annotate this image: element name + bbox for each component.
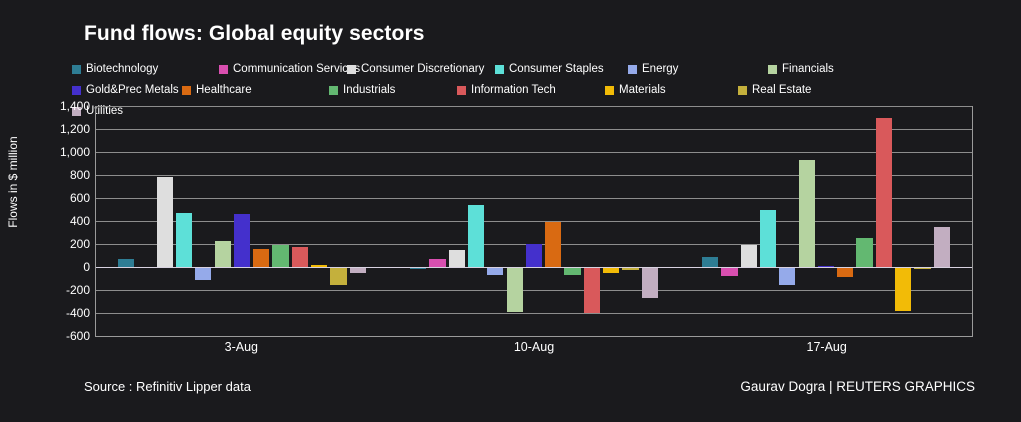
bar-slot — [836, 106, 855, 336]
bar-slot — [310, 106, 329, 336]
legend-label: Consumer Discretionary — [361, 64, 484, 75]
legend-label: Materials — [619, 85, 666, 96]
legend-item[interactable]: Energy — [628, 60, 768, 79]
bar-slot — [252, 106, 271, 336]
legend-swatch-icon — [347, 65, 356, 74]
bar-slot — [232, 106, 251, 336]
bar-slot — [913, 106, 932, 336]
bar-slot — [447, 106, 466, 336]
y-axis-tick-label: 0 — [30, 260, 90, 274]
bar-slot — [329, 106, 348, 336]
bar-slot — [271, 106, 290, 336]
bar-slot — [720, 106, 739, 336]
bar[interactable] — [741, 245, 757, 267]
legend-swatch-icon — [738, 86, 747, 95]
legend-swatch-icon — [72, 65, 81, 74]
bar-group-bars — [700, 106, 951, 336]
bar[interactable] — [721, 267, 737, 276]
legend-swatch-icon — [768, 65, 777, 74]
x-axis-labels: 3-Aug10-Aug17-Aug — [95, 340, 973, 354]
credit-note: Gaurav Dogra | REUTERS GRAPHICS — [740, 379, 975, 394]
bar[interactable] — [837, 267, 853, 277]
x-axis-tick-label: 17-Aug — [680, 340, 973, 354]
bar[interactable] — [934, 227, 950, 267]
bar[interactable] — [895, 267, 911, 311]
bar-slot — [524, 106, 543, 336]
bar-slot — [874, 106, 893, 336]
bar-slot — [932, 106, 951, 336]
y-axis-tick-label: 200 — [30, 237, 90, 251]
legend-item[interactable]: Information Tech — [457, 81, 605, 100]
legend-swatch-icon — [182, 86, 191, 95]
bar-slot — [213, 106, 232, 336]
bar[interactable] — [195, 267, 211, 280]
source-note: Source : Refinitiv Lipper data — [84, 379, 251, 394]
bar[interactable] — [234, 214, 250, 267]
y-axis-tick-label: 1,200 — [30, 122, 90, 136]
bar-slot — [116, 106, 135, 336]
y-axis-labels: 1,4001,2001,0008006004002000-200-400-600 — [20, 106, 90, 336]
bar[interactable] — [584, 267, 600, 313]
legend-label: Financials — [782, 64, 834, 75]
bar-group — [680, 106, 972, 336]
bar[interactable] — [118, 259, 134, 267]
legend-label: Healthcare — [196, 85, 252, 96]
legend-swatch-icon — [219, 65, 228, 74]
legend-swatch-icon — [605, 86, 614, 95]
bar-slot — [563, 106, 582, 336]
y-axis-tick-label: 1,000 — [30, 145, 90, 159]
bar-slot — [428, 106, 447, 336]
legend-item[interactable]: Real Estate — [738, 81, 878, 100]
bar-slot — [486, 106, 505, 336]
bar-slot — [816, 106, 835, 336]
bar[interactable] — [176, 213, 192, 267]
legend-label: Gold&Prec Metals — [86, 85, 179, 96]
bar-slot — [739, 106, 758, 336]
bar-slot — [778, 106, 797, 336]
bar[interactable] — [429, 259, 445, 267]
bar-slot — [855, 106, 874, 336]
y-axis-title: Flows in $ million — [6, 107, 20, 257]
x-axis-tick-label: 3-Aug — [95, 340, 388, 354]
y-axis-tick-label: -600 — [30, 329, 90, 343]
legend-label: Energy — [642, 64, 678, 75]
x-axis-tick-label: 10-Aug — [388, 340, 681, 354]
bar-group — [96, 106, 388, 336]
bar[interactable] — [779, 267, 795, 285]
legend-item[interactable]: Biotechnology — [72, 60, 219, 79]
legend-label: Real Estate — [752, 85, 811, 96]
bar[interactable] — [876, 118, 892, 268]
legend-item[interactable]: Consumer Discretionary — [347, 60, 495, 79]
legend-item[interactable]: Consumer Staples — [495, 60, 628, 79]
y-axis-tick-label: 400 — [30, 214, 90, 228]
bar[interactable] — [215, 241, 231, 267]
bar-slot — [408, 106, 427, 336]
bar-slot — [290, 106, 309, 336]
legend-item[interactable]: Financials — [768, 60, 908, 79]
bar-slot — [894, 106, 913, 336]
bar-groups — [96, 106, 972, 336]
bar[interactable] — [799, 160, 815, 267]
bar[interactable] — [642, 267, 658, 298]
page-title: Fund flows: Global equity sectors — [84, 22, 425, 46]
bar-slot — [136, 106, 155, 336]
y-axis-tick-label: -400 — [30, 306, 90, 320]
bar[interactable] — [330, 267, 346, 285]
bar-slot — [466, 106, 485, 336]
legend-swatch-icon — [72, 86, 81, 95]
bar-slot — [544, 106, 563, 336]
bar[interactable] — [157, 177, 173, 267]
bar-group-bars — [116, 106, 367, 336]
bar-slot — [194, 106, 213, 336]
legend-swatch-icon — [628, 65, 637, 74]
bar-slot — [174, 106, 193, 336]
legend-item[interactable]: Materials — [605, 81, 738, 100]
bar[interactable] — [526, 244, 542, 267]
bar[interactable] — [564, 267, 580, 275]
bar[interactable] — [545, 222, 561, 267]
bar[interactable] — [487, 267, 503, 275]
bar[interactable] — [292, 247, 308, 267]
bar[interactable] — [760, 210, 776, 268]
legend-label: Consumer Staples — [509, 64, 604, 75]
chart-page: Fund flows: Global equity sectors Biotec… — [0, 0, 1021, 422]
bar[interactable] — [272, 245, 288, 267]
legend-item[interactable]: Communication Services — [219, 60, 347, 79]
bar[interactable] — [507, 267, 523, 312]
bar-slot — [155, 106, 174, 336]
bar[interactable] — [253, 249, 269, 267]
legend-swatch-icon — [457, 86, 466, 95]
y-axis-tick-label: 600 — [30, 191, 90, 205]
legend-label: Information Tech — [471, 85, 556, 96]
bar[interactable] — [702, 257, 718, 267]
bar-group-bars — [408, 106, 659, 336]
legend-swatch-icon — [495, 65, 504, 74]
bar-slot — [700, 106, 719, 336]
x-axis-line — [95, 336, 973, 337]
legend-label: Biotechnology — [86, 64, 158, 75]
bar[interactable] — [856, 238, 872, 267]
legend-label: Communication Services — [233, 64, 360, 75]
legend-item[interactable]: Gold&Prec Metals — [72, 81, 182, 100]
bar-slot — [505, 106, 524, 336]
bar-slot — [621, 106, 640, 336]
bar-slot — [797, 106, 816, 336]
legend-label: Industrials — [343, 85, 395, 96]
bar-slot — [758, 106, 777, 336]
legend-item[interactable]: Industrials — [329, 81, 457, 100]
legend-item[interactable]: Healthcare — [182, 81, 329, 100]
bar-slot — [602, 106, 621, 336]
bar-slot — [348, 106, 367, 336]
bar-slot — [582, 106, 601, 336]
bar-group — [388, 106, 680, 336]
plot-area — [95, 106, 973, 336]
bar[interactable] — [449, 250, 465, 267]
zero-line — [96, 267, 972, 268]
bar[interactable] — [468, 205, 484, 267]
legend-swatch-icon — [329, 86, 338, 95]
bar-slot — [640, 106, 659, 336]
y-axis-tick-label: 1,400 — [30, 99, 90, 113]
y-axis-tick-label: 800 — [30, 168, 90, 182]
y-axis-tick-label: -200 — [30, 283, 90, 297]
